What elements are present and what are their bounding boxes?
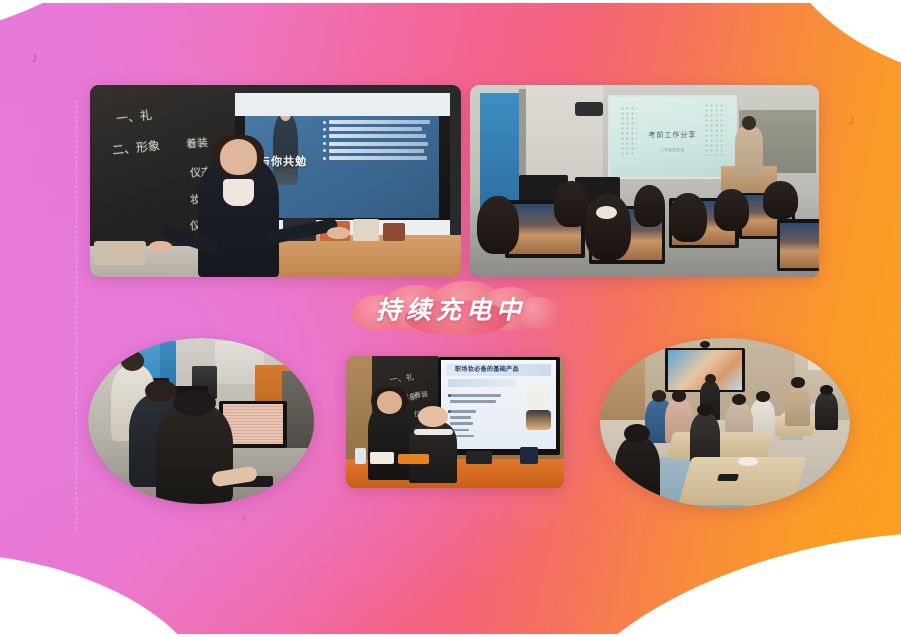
photo-lecture-etiquette[interactable]: 一、礼 二、形象 着装 仪态 妆容 仪容 与你共勉 (90, 85, 461, 277)
list-item (323, 134, 433, 138)
banner-title-block: 持续充电中 (337, 280, 565, 338)
attendee-head (634, 185, 665, 227)
list-item (323, 156, 433, 160)
slide-subtitle-band (448, 379, 517, 387)
music-note-icon: ♪ (241, 513, 247, 524)
attendee-head (477, 196, 519, 254)
projector-device (575, 102, 603, 115)
page-title: 持续充电中 (337, 290, 565, 326)
bullet-dot-icon (323, 135, 326, 138)
product-illustration (526, 385, 549, 408)
bullet-dot-icon (323, 142, 326, 145)
photo-scene: 一、礼 二、形象 着装 仪态 妆容 仪容 与你共勉 (90, 85, 461, 277)
monitor (777, 219, 819, 271)
product-illustration (526, 410, 551, 430)
list-item (323, 120, 433, 124)
slide-title: 考前工作分享 (610, 130, 736, 140)
presentation-slide: 职场妆必备的基础产品 (441, 360, 556, 449)
photo-scene: 考前工作分享 工作经验交流 (470, 85, 819, 277)
meeting-table (667, 432, 773, 459)
photo-students-computers[interactable] (88, 338, 314, 504)
slide-text-line (450, 400, 496, 403)
photo-computer-lab-share[interactable]: 考前工作分享 工作经验交流 (470, 85, 819, 277)
attendee-head (763, 181, 798, 219)
attendee-head (714, 189, 749, 231)
attendee-figure (815, 392, 838, 429)
photo-meeting-room[interactable] (600, 338, 850, 508)
blackboard-line: 着装 (413, 390, 428, 401)
wood-panel (600, 352, 645, 420)
corner-sweep-bottom-left (0, 524, 225, 637)
instructor-figure (198, 158, 280, 277)
attendee-head (669, 193, 707, 243)
slide-top-band (235, 93, 450, 116)
table-object (520, 447, 537, 464)
slide-text-line (450, 394, 500, 397)
desk-object (383, 223, 405, 240)
photo-scene (600, 338, 850, 508)
photo-scene: 一、礼 二、形象 着装 仪态 职场妆必备的基础产品 (346, 356, 564, 488)
corner-sweep-top-left (0, 0, 134, 52)
music-note-icon: ♪ (30, 50, 40, 66)
bullet-dot-icon (323, 157, 326, 160)
table-object (398, 454, 429, 465)
monitor-screen (780, 223, 819, 269)
instructor-figure (368, 406, 412, 480)
chair (94, 241, 146, 266)
bullet-dot-icon (323, 121, 326, 124)
attendee-figure (785, 386, 810, 427)
list-item (323, 127, 433, 131)
instructor-hand (327, 227, 349, 239)
projection-screen: 考前工作分享 工作经验交流 (610, 97, 736, 178)
attendee-figure (615, 437, 660, 505)
hair-band (414, 429, 453, 436)
list-item (323, 142, 433, 146)
slide-text-line (450, 416, 471, 419)
top-edge (0, 0, 901, 3)
presenter-figure (735, 127, 763, 177)
attendee-head (585, 194, 630, 259)
photo-makeup-demo[interactable]: 一、礼 二、形象 着装 仪态 职场妆必备的基础产品 (346, 356, 564, 488)
bullet-dot-icon (323, 128, 326, 131)
bullet-dot-icon (323, 149, 326, 152)
desk-object (353, 219, 379, 240)
slide-person-figure (273, 113, 298, 185)
instructor-hand (149, 241, 171, 253)
corner-sweep-top-right (760, 0, 901, 84)
table-object (370, 452, 394, 464)
hair-accessory (596, 206, 617, 219)
table-object (738, 457, 758, 466)
list-item (323, 149, 433, 153)
attendee-head (554, 181, 589, 227)
table-object (466, 451, 492, 464)
dashed-divider-line (76, 100, 77, 530)
phone-device (717, 474, 739, 481)
slide-title: 职场妆必备的基础产品 (455, 364, 519, 373)
student-figure (156, 404, 233, 504)
blackboard-line: 着装 (186, 134, 209, 151)
wall-poster (808, 355, 831, 370)
music-note-icon: ♪ (847, 113, 857, 129)
photo-scene (88, 338, 314, 504)
slide-text-line (450, 422, 473, 425)
table-object (355, 448, 366, 464)
slide-bullet-list (323, 120, 433, 163)
slide-subtitle: 工作经验交流 (610, 148, 736, 153)
window-curtain (480, 93, 518, 212)
cabinet (282, 371, 314, 447)
slide-text-line (450, 410, 475, 413)
poster-canvas: ♪ ♪ ♪ 一、礼 二、形象 着装 仪态 妆容 仪容 与你共勉 (0, 0, 901, 637)
